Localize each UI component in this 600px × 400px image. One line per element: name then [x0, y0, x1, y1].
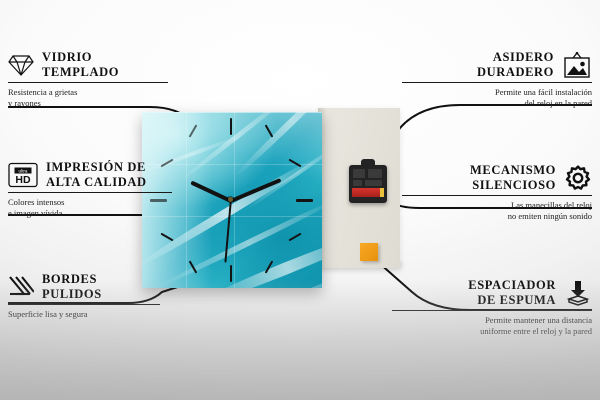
- mechanism-detail: [353, 169, 365, 178]
- callout-title: ESPACIADOR DE ESPUMA: [468, 278, 556, 307]
- diamond-icon: [8, 53, 34, 77]
- clock-grid-line: [186, 112, 187, 288]
- callout-impresion-alta-calidad: ultra HD IMPRESIÓN DE ALTA CALIDAD Color…: [8, 160, 172, 219]
- mechanism-detail: [365, 180, 382, 186]
- callout-bordes-pulidos: BORDES PULIDOS Superficie lisa y segura: [8, 272, 160, 320]
- callout-subtitle: Permite una fácil instalación del reloj …: [402, 87, 592, 109]
- callout-vidrio-templado: VIDRIO TEMPLADO Resistencia a grietas y …: [8, 50, 168, 109]
- clock-tick-6: [230, 265, 232, 282]
- connector-asidero: [386, 105, 592, 150]
- mechanism-detail: [353, 180, 362, 186]
- callout-title: ASIDERO DURADERO: [477, 50, 554, 79]
- clock-streak: [232, 112, 322, 180]
- callout-title: VIDRIO TEMPLADO: [42, 50, 119, 79]
- clock-tick-1: [265, 124, 274, 137]
- divider: [8, 304, 160, 305]
- mechanism-hanger-tab: [361, 159, 375, 167]
- infographic-canvas: VIDRIO TEMPLADO Resistencia a grietas y …: [0, 0, 600, 400]
- clock-hub: [228, 197, 233, 202]
- clock-tick-4: [288, 233, 301, 242]
- battery-terminal: [380, 188, 384, 197]
- callout-title: MECANISMO SILENCIOSO: [470, 163, 556, 192]
- callout-subtitle: Las manecillas del reloj no emiten ningú…: [402, 200, 592, 222]
- picture-frame-hanger-icon: [562, 51, 592, 79]
- divider: [8, 192, 172, 193]
- callout-title: BORDES PULIDOS: [42, 272, 102, 301]
- gear-icon: [564, 164, 592, 192]
- callout-asidero-duradero: ASIDERO DURADERO Permite una fácil insta…: [402, 50, 592, 109]
- polished-edges-icon: [8, 275, 34, 299]
- divider: [402, 82, 592, 83]
- clock-mechanism: [349, 165, 387, 203]
- callout-subtitle: Resistencia a grietas y rayones: [8, 87, 168, 109]
- foam-spacer-arrow-icon: [564, 279, 592, 307]
- divider: [392, 310, 592, 311]
- ultra-hd-icon: ultra HD: [8, 162, 38, 188]
- mechanism-detail: [368, 169, 382, 178]
- clock-tick-2: [288, 159, 301, 168]
- callout-subtitle: Permite mantener una distancia uniforme …: [392, 315, 592, 337]
- callout-mecanismo-silencioso: MECANISMO SILENCIOSO Las manecillas del …: [402, 163, 592, 222]
- callout-title: IMPRESIÓN DE ALTA CALIDAD: [46, 160, 147, 189]
- divider: [8, 82, 168, 83]
- svg-text:ultra: ultra: [19, 168, 28, 173]
- callout-subtitle: Superficie lisa y segura: [8, 309, 160, 320]
- callout-espaciador-espuma: ESPACIADOR DE ESPUMA Permite mantener un…: [392, 278, 592, 337]
- foam-spacer-part: [360, 243, 378, 261]
- divider: [402, 195, 592, 196]
- aa-battery: [352, 188, 384, 197]
- clock-tick-12: [230, 118, 232, 135]
- callout-subtitle: Colores intensos e imagen vívida: [8, 197, 172, 219]
- svg-text:HD: HD: [15, 174, 31, 186]
- clock-tick-3: [296, 199, 313, 202]
